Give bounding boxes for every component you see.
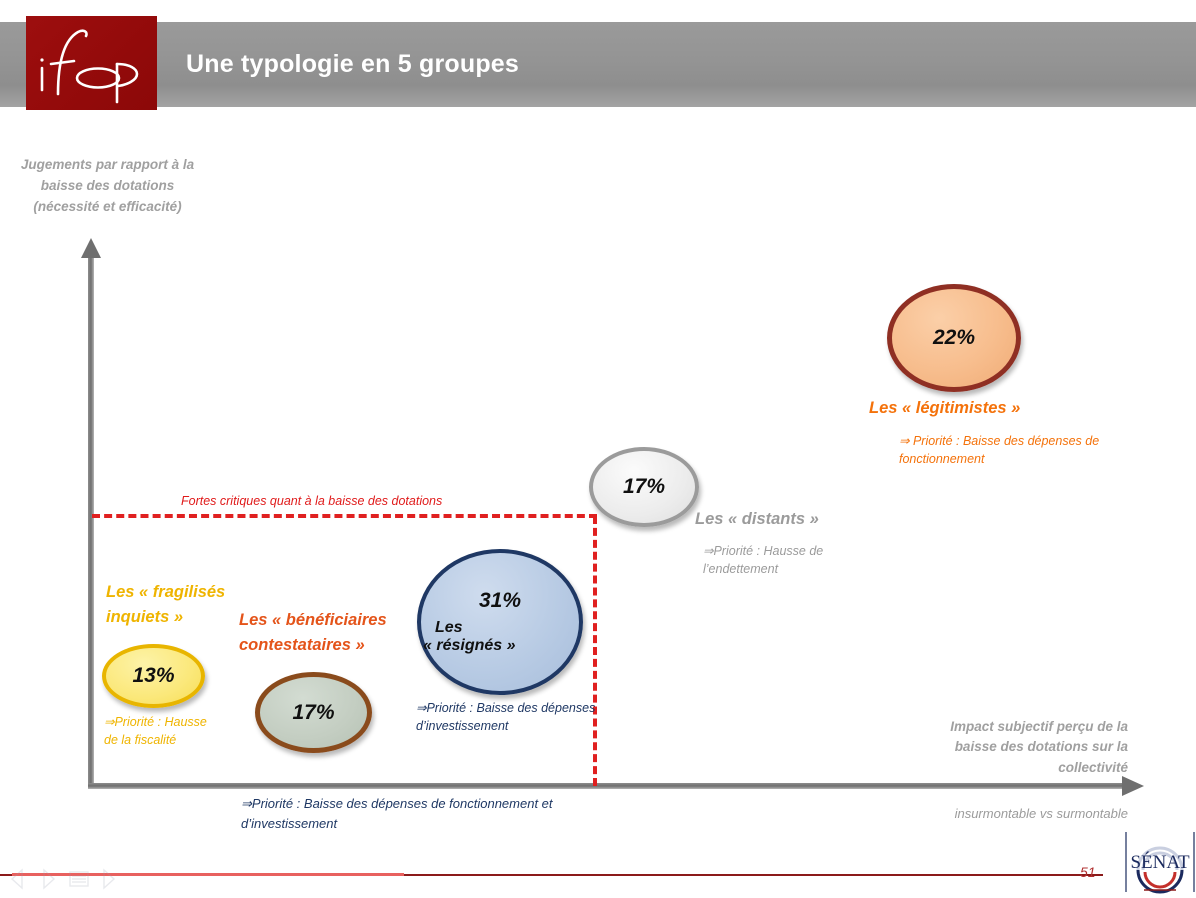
group-label-legitimistes: Les « légitimistes » bbox=[869, 396, 1099, 421]
x-axis-caption-line-1: Impact subjectif perçu de la bbox=[880, 717, 1128, 737]
x-axis-caption-line-2: baisse des dotations sur la bbox=[880, 737, 1128, 757]
group-label-beneficiaires-line-1: Les « bénéficiaires bbox=[239, 608, 429, 633]
slideshow-nav-controls[interactable] bbox=[8, 866, 138, 892]
page-number: 51 bbox=[1080, 864, 1096, 880]
group-label-beneficiaires: Les « bénéficiaires contestataires » bbox=[239, 608, 429, 658]
group-priority-resignes: ⇒Priorité : Baisse des dépenses d’invest… bbox=[416, 699, 616, 735]
horizontal-reference-line bbox=[92, 514, 597, 518]
x-axis-caption: Impact subjectif perçu de la baisse des … bbox=[880, 717, 1128, 778]
bubble-value-resignes: 31% bbox=[479, 589, 521, 613]
group-label-beneficiaires-line-2: contestataires » bbox=[239, 633, 429, 658]
group-label-fragilises-line-1: Les « fragilisés bbox=[106, 580, 276, 605]
group-label-distants: Les « distants » bbox=[695, 507, 895, 532]
y-axis-caption-line-2: baisse des dotations bbox=[0, 176, 215, 197]
header-bar bbox=[0, 22, 1196, 107]
bubble-legitimistes[interactable]: 22% bbox=[887, 284, 1021, 392]
page-title: Une typologie en 5 groupes bbox=[186, 50, 519, 79]
x-axis-priority-note: ⇒Priorité : Baisse des dépenses de fonct… bbox=[241, 794, 571, 833]
y-axis-caption: Jugements par rapport à la baisse des do… bbox=[0, 155, 215, 218]
y-axis-caption-line-1: Jugements par rapport à la bbox=[0, 155, 215, 176]
nav-previous-icon bbox=[12, 870, 22, 888]
ifop-logo bbox=[26, 16, 157, 110]
x-axis-line bbox=[88, 776, 1144, 796]
bubble-value-legitimistes: 22% bbox=[933, 326, 975, 350]
bubble-value-fragilises: 13% bbox=[132, 664, 174, 688]
ifop-logo-icon bbox=[26, 16, 157, 110]
y-axis-caption-line-3: (nécessité et efficacité) bbox=[0, 197, 215, 218]
group-priority-legitimistes: ⇒ Priorité : Baisse des dépenses de fonc… bbox=[899, 432, 1119, 468]
bubble-beneficiaires[interactable]: 17% bbox=[255, 672, 372, 753]
bubble-distants[interactable]: 17% bbox=[589, 447, 699, 527]
bubble-label-resignes-line-2: « résignés » bbox=[423, 637, 516, 655]
bubble-value-distants: 17% bbox=[623, 475, 665, 499]
senat-logo-text: SÉNAT bbox=[1130, 851, 1190, 873]
vertical-reference-line bbox=[593, 516, 597, 786]
nav-next-icon bbox=[44, 870, 54, 888]
bubble-value-beneficiaires: 17% bbox=[292, 701, 334, 725]
senat-logo: SÉNAT bbox=[1124, 826, 1196, 898]
x-axis-caption-line-3: collectivité bbox=[880, 758, 1128, 778]
group-priority-distants: ⇒Priorité : Hausse de l’endettement bbox=[703, 542, 883, 578]
x-axis-subcaption: insurmontable vs surmontable bbox=[840, 806, 1128, 821]
bubble-resignes[interactable]: 31% Les « résignés » bbox=[417, 549, 583, 695]
slide-canvas: Une typologie en 5 groupes Jugements par… bbox=[0, 0, 1196, 898]
bubble-label-resignes-line-1: Les bbox=[435, 619, 463, 637]
bubble-fragilises[interactable]: 13% bbox=[102, 644, 205, 708]
horizontal-reference-label: Fortes critiques quant à la baisse des d… bbox=[181, 492, 451, 510]
y-axis-line bbox=[81, 238, 101, 786]
group-priority-fragilises: ⇒Priorité : Hausse de la fiscalité bbox=[104, 713, 214, 749]
nav-end-icon bbox=[104, 870, 114, 888]
